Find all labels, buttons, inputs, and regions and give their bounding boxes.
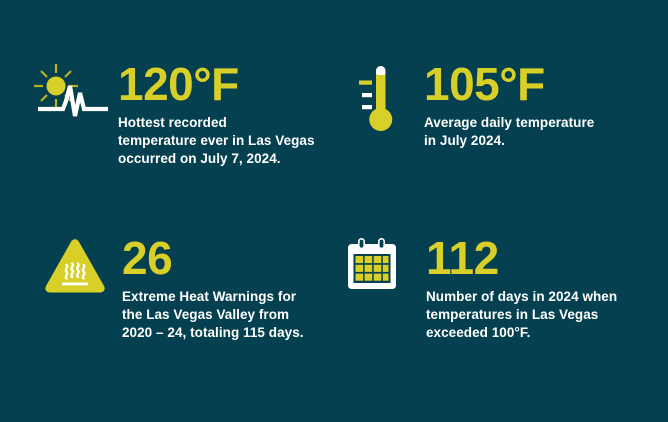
sun-pulse-icon [36,62,112,128]
stat-description: Number of days in 2024 when temperatures… [426,288,617,341]
stat-value: 105°F [424,62,594,107]
stat-value: 112 [426,236,617,281]
stat-value: 26 [122,236,304,281]
heat-warning-triangle-icon [40,236,110,296]
stat-card-days-exceeded-100: 112 Number of days in 2024 when temperat… [340,236,617,342]
stat-body: 120°F Hottest recorded temperature ever … [118,62,315,168]
stat-body: 105°F Average daily temperature in July … [424,62,594,150]
heat-statistics-infographic: 120°F Hottest recorded temperature ever … [0,0,668,422]
stat-body: 112 Number of days in 2024 when temperat… [426,236,617,342]
stat-value: 120°F [118,62,315,107]
stat-description: Hottest recorded temperature ever in Las… [118,114,315,167]
thermometer-icon [352,62,408,134]
stat-card-hottest-temperature: 120°F Hottest recorded temperature ever … [36,62,315,168]
stat-card-average-temperature: 105°F Average daily temperature in July … [352,62,594,150]
stat-card-extreme-heat-warnings: 26 Extreme Heat Warnings for the Las Veg… [40,236,304,342]
stat-body: 26 Extreme Heat Warnings for the Las Veg… [122,236,304,342]
stat-description: Extreme Heat Warnings for the Las Vegas … [122,288,304,341]
stat-description: Average daily temperature in July 2024. [424,114,594,150]
calendar-icon [340,236,410,296]
